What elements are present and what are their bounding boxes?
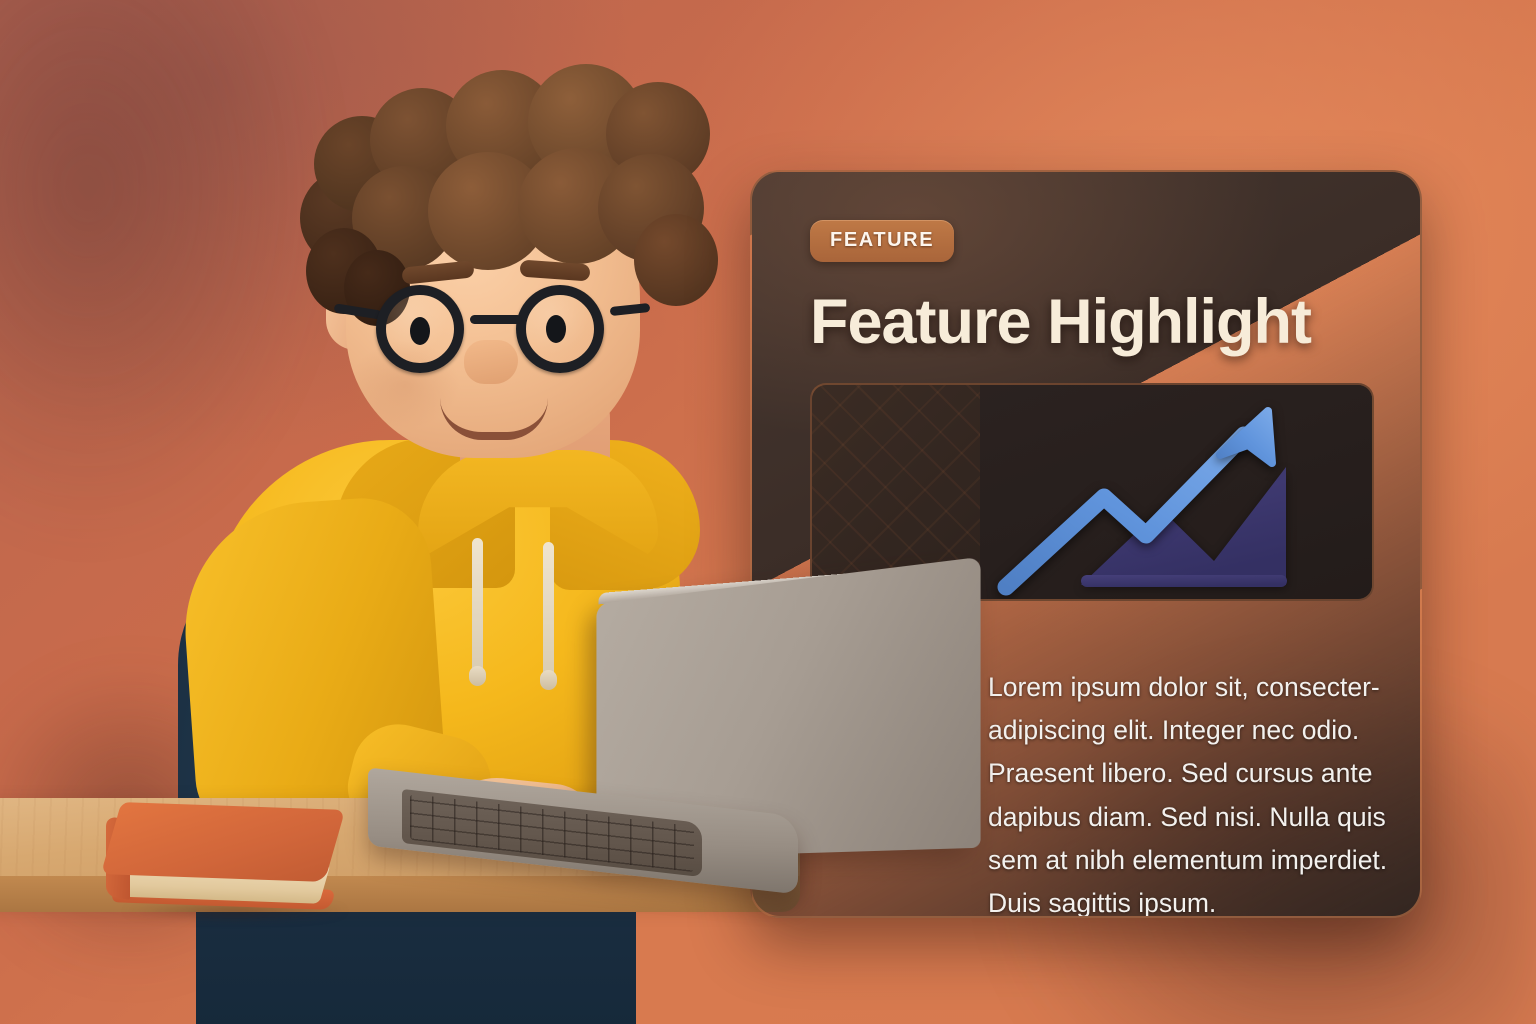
nose [464,340,518,384]
eye-right [546,315,566,343]
body-paragraph: Lorem ipsum dolor sit, consecter- adipis… [988,666,1408,918]
body-line: Praesent libero. Sed cursus ante [988,752,1408,795]
desk-leg [118,902,180,1024]
body-line: Lorem ipsum dolor sit, consecter- [988,666,1408,709]
laptop [360,582,1000,882]
feature-badge[interactable]: FEATURE [810,220,954,262]
body-line: Duis sagittis ipsum. [988,882,1408,918]
body-line: dapibus diam. Sed nisi. Nulla quis [988,796,1408,839]
illustration-scene: FEATURE Feature Highlight [0,0,1536,1024]
book-on-desk [96,806,346,918]
book-front-cover [101,802,345,882]
eye-left [410,317,430,345]
growth-chart-icon [986,389,1366,599]
body-line: sem at nibh elementum imperdiet. [988,839,1408,882]
body-line: adipiscing elit. Integer nec odio. [988,709,1408,752]
glasses-bridge [470,315,522,324]
page-title: Feature Highlight [810,289,1370,355]
